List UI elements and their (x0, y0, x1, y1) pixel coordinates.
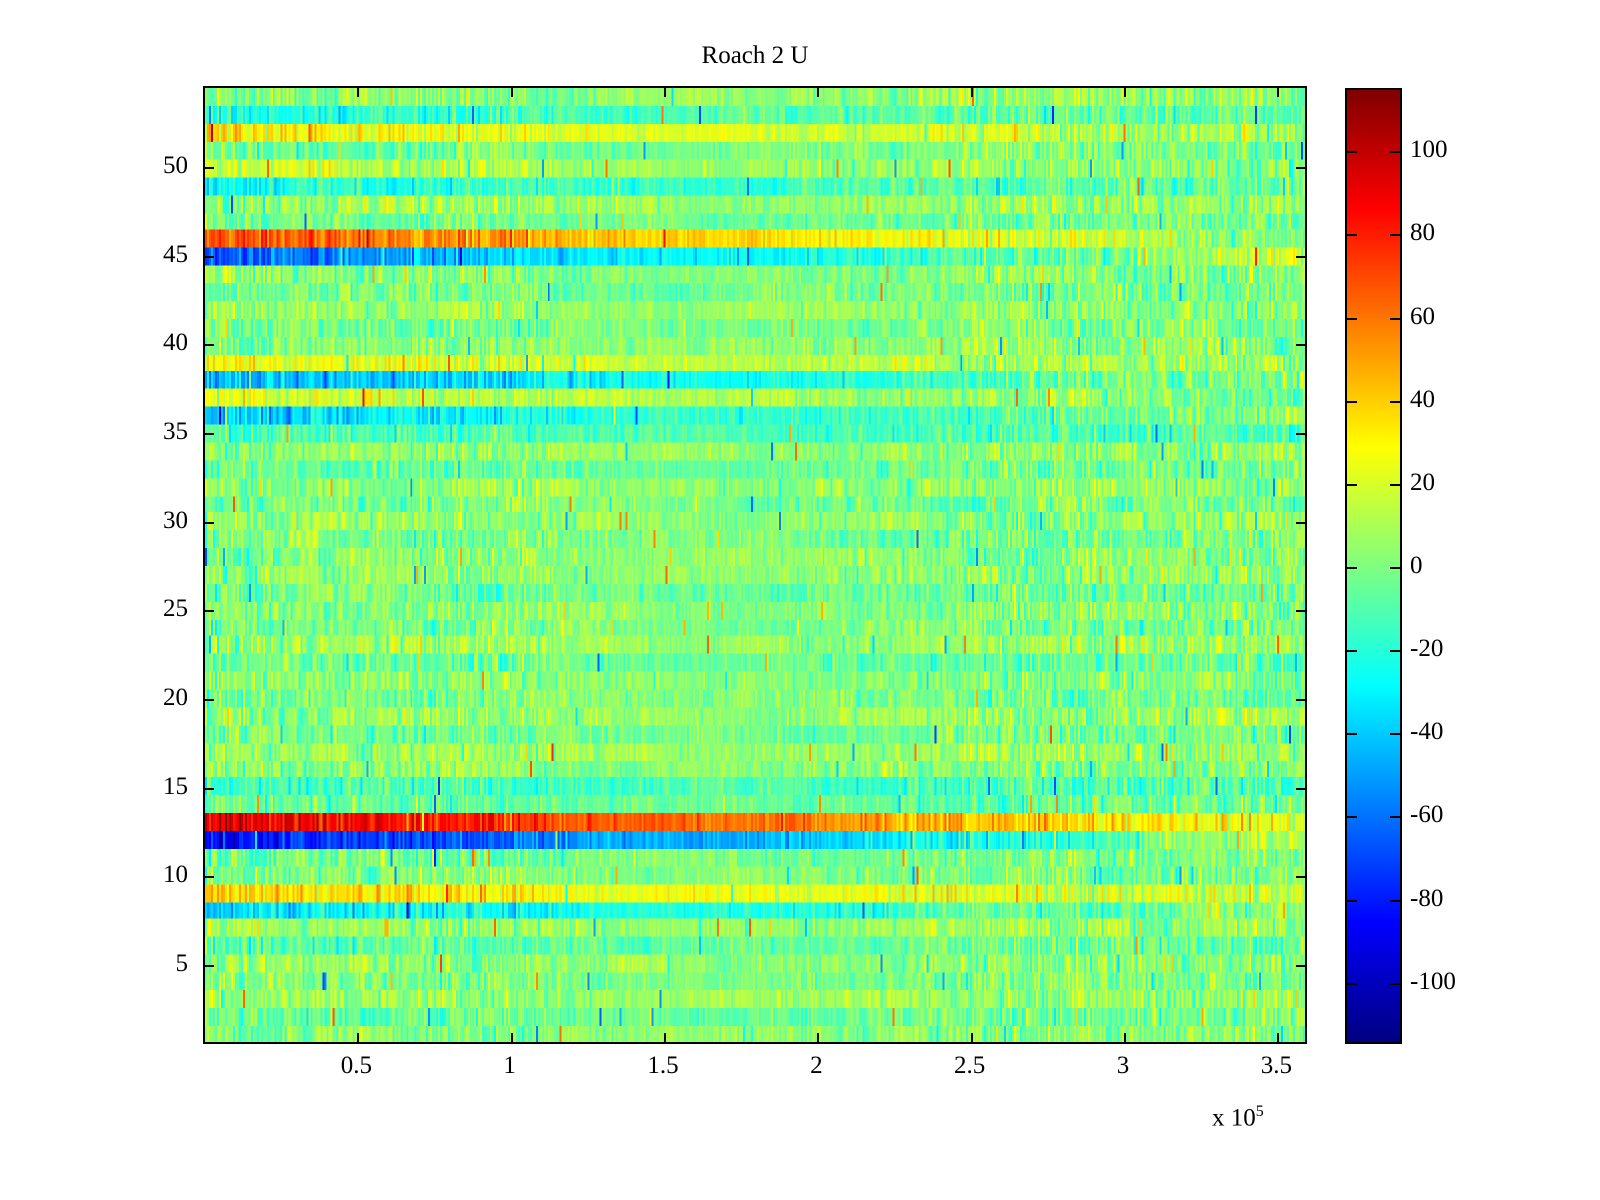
y-tick-mark (205, 167, 214, 169)
colorbar-tick-mark (1347, 318, 1357, 320)
x-tick-label: 2.5 (954, 1052, 985, 1080)
heatmap-axes[interactable] (203, 86, 1307, 1044)
colorbar-tick-mark (1347, 567, 1357, 569)
y-tick-label: 45 (0, 241, 188, 269)
colorbar-tick-label: -20 (1410, 635, 1443, 663)
y-tick-mark (205, 965, 214, 967)
y-tick-mark-right (1296, 610, 1305, 612)
colorbar-tick-mark-right (1390, 318, 1400, 320)
colorbar-tick-mark-right (1390, 151, 1400, 153)
colorbar-tick-mark-right (1390, 650, 1400, 652)
colorbar-tick-label: -40 (1410, 718, 1443, 746)
y-tick-mark (205, 699, 214, 701)
colorbar-tick-mark-right (1390, 234, 1400, 236)
y-tick-mark-right (1296, 876, 1305, 878)
x-tick-mark (971, 1033, 973, 1042)
y-tick-mark-right (1296, 256, 1305, 258)
colorbar-tick-label: 40 (1410, 386, 1435, 414)
y-tick-label: 5 (0, 950, 188, 978)
colorbar-tick-label: 60 (1410, 303, 1435, 331)
exponent-power: 5 (1256, 1103, 1264, 1120)
y-tick-label: 35 (0, 418, 188, 446)
colorbar-tick-mark (1347, 151, 1357, 153)
y-tick-mark-right (1296, 344, 1305, 346)
page-title: Roach 2 U (203, 42, 1307, 70)
x-tick-mark (664, 1033, 666, 1042)
colorbar-tick-mark-right (1390, 401, 1400, 403)
colorbar-tick-mark-right (1390, 733, 1400, 735)
x-tick-label: 2 (810, 1052, 823, 1080)
x-tick-mark-top (664, 88, 666, 97)
colorbar-tick-mark (1347, 650, 1357, 652)
colorbar-tick-mark-right (1390, 567, 1400, 569)
colorbar-tick-mark (1347, 484, 1357, 486)
y-tick-mark-right (1296, 167, 1305, 169)
x-tick-label: 3 (1117, 1052, 1130, 1080)
x-tick-mark-top (357, 88, 359, 97)
colorbar-tick-label: 0 (1410, 552, 1423, 580)
x-tick-mark-top (1277, 88, 1279, 97)
y-tick-mark (205, 788, 214, 790)
x-tick-mark-top (971, 88, 973, 97)
x-tick-mark (817, 1033, 819, 1042)
y-tick-mark (205, 256, 214, 258)
y-tick-label: 10 (0, 861, 188, 889)
x-axis-exponent-label: x 105 (1212, 1098, 1264, 1132)
x-tick-label: 1 (503, 1052, 516, 1080)
y-tick-mark-right (1296, 788, 1305, 790)
y-tick-label: 25 (0, 595, 188, 623)
y-tick-mark (205, 522, 214, 524)
x-tick-mark-top (1124, 88, 1126, 97)
colorbar-tick-label: -100 (1410, 968, 1456, 996)
x-tick-mark (1124, 1033, 1126, 1042)
x-tick-label: 0.5 (341, 1052, 372, 1080)
colorbar-tick-label: -80 (1410, 885, 1443, 913)
y-tick-mark (205, 344, 214, 346)
colorbar-tick-label: 20 (1410, 469, 1435, 497)
colorbar-tick-mark-right (1390, 983, 1400, 985)
colorbar-tick-mark (1347, 900, 1357, 902)
colorbar-tick-mark-right (1390, 900, 1400, 902)
y-tick-mark-right (1296, 965, 1305, 967)
x-tick-label: 3.5 (1261, 1052, 1292, 1080)
y-tick-label: 15 (0, 773, 188, 801)
y-tick-mark (205, 610, 214, 612)
x-tick-mark (511, 1033, 513, 1042)
colorbar-tick-label: -60 (1410, 801, 1443, 829)
colorbar-tick-mark (1347, 733, 1357, 735)
y-tick-mark-right (1296, 522, 1305, 524)
y-tick-mark (205, 433, 214, 435)
colorbar-tick-mark-right (1390, 816, 1400, 818)
x-tick-mark-top (817, 88, 819, 97)
y-tick-label: 40 (0, 329, 188, 357)
y-tick-mark-right (1296, 699, 1305, 701)
colorbar-tick-mark (1347, 816, 1357, 818)
y-tick-label: 50 (0, 152, 188, 180)
colorbar-tick-mark (1347, 983, 1357, 985)
colorbar-tick-label: 100 (1410, 136, 1448, 164)
exponent-base: x 10 (1212, 1104, 1256, 1131)
y-tick-mark (205, 876, 214, 878)
y-tick-label: 30 (0, 507, 188, 535)
x-tick-mark-top (511, 88, 513, 97)
colorbar[interactable] (1345, 88, 1402, 1044)
y-tick-mark-right (1296, 433, 1305, 435)
y-tick-label: 20 (0, 684, 188, 712)
heatmap-image (205, 88, 1305, 1042)
colorbar-tick-mark-right (1390, 484, 1400, 486)
figure-canvas: Roach 2 U 0.511.522.533.5 51015202530354… (0, 0, 1600, 1200)
x-tick-label: 1.5 (647, 1052, 678, 1080)
x-tick-mark (357, 1033, 359, 1042)
colorbar-tick-mark (1347, 234, 1357, 236)
colorbar-tick-label: 80 (1410, 219, 1435, 247)
x-tick-mark (1277, 1033, 1279, 1042)
colorbar-tick-mark (1347, 401, 1357, 403)
